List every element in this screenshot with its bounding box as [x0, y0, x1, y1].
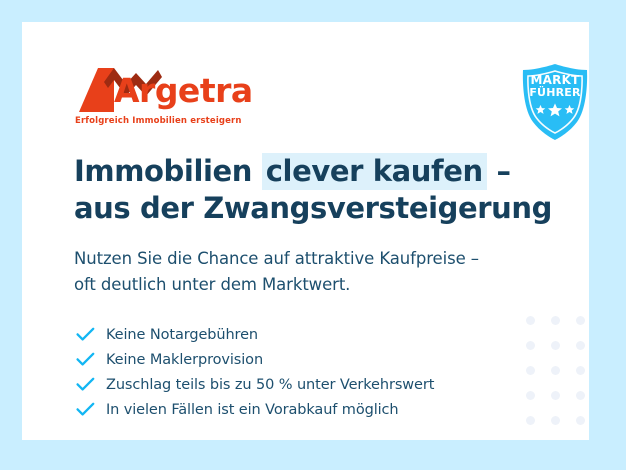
headline-line-1: Immobilien clever kaufen –	[74, 153, 544, 190]
dot	[576, 316, 585, 325]
headline-line-2: aus der Zwangsversteigerung	[74, 190, 544, 227]
benefits-list: Keine Notargebühren Keine Maklerprovisio…	[76, 322, 546, 422]
check-icon	[76, 327, 106, 342]
dot	[551, 316, 560, 325]
headline-part-post: –	[487, 154, 511, 188]
headline: Immobilien clever kaufen – aus der Zwang…	[74, 153, 544, 227]
list-item: Keine Notargebühren	[76, 322, 546, 347]
check-icon	[76, 377, 106, 392]
check-icon	[76, 352, 106, 367]
logo-wordmark: Argetra	[114, 74, 253, 107]
shield-badge-icon	[515, 62, 589, 142]
list-item: Keine Maklerprovision	[76, 347, 546, 372]
market-leader-badge: MARKT FÜHRER	[515, 62, 589, 142]
dot	[576, 366, 585, 375]
list-item-label: Zuschlag teils bis zu 50 % unter Verkehr…	[106, 377, 434, 393]
dot	[551, 391, 560, 400]
list-item: Zuschlag teils bis zu 50 % unter Verkehr…	[76, 372, 546, 397]
dot	[576, 341, 585, 350]
list-item: In vielen Fällen ist ein Vorabkauf mögli…	[76, 397, 546, 422]
list-item-label: In vielen Fällen ist ein Vorabkauf mögli…	[106, 402, 399, 418]
banner-content-panel: Argetra Erfolgreich Immobilien ersteiger…	[22, 22, 589, 440]
dot	[576, 416, 585, 425]
list-item-label: Keine Maklerprovision	[106, 352, 263, 368]
check-icon	[76, 402, 106, 417]
headline-part-pre: Immobilien	[74, 154, 262, 188]
logo-tagline: Erfolgreich Immobilien ersteigern	[75, 116, 242, 126]
dot	[576, 391, 585, 400]
list-item-label: Keine Notargebühren	[106, 327, 258, 343]
dot	[551, 416, 560, 425]
headline-highlight: clever kaufen	[262, 153, 487, 190]
argetra-logo: Argetra Erfolgreich Immobilien ersteiger…	[74, 66, 274, 132]
subtext-line-1: Nutzen Sie die Chance auf attraktive Kau…	[74, 246, 544, 272]
subtext: Nutzen Sie die Chance auf attraktive Kau…	[74, 246, 544, 298]
promo-banner: Argetra Erfolgreich Immobilien ersteiger…	[0, 0, 626, 470]
dot	[551, 341, 560, 350]
subtext-line-2: oft deutlich unter dem Marktwert.	[74, 272, 544, 298]
dot	[551, 366, 560, 375]
